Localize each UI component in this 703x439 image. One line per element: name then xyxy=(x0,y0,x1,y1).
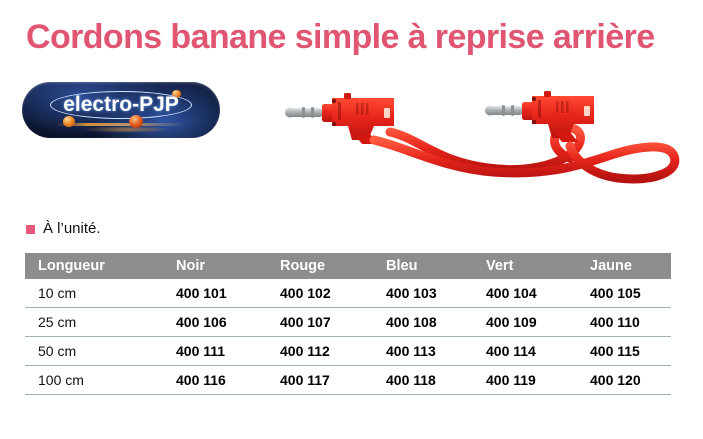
cell-longueur: 25 cm xyxy=(25,308,163,337)
square-bullet-icon xyxy=(26,225,35,234)
cell-bleu: 400 113 xyxy=(373,337,473,366)
cell-noir: 400 111 xyxy=(163,337,267,366)
page-title: Cordons banane simple à reprise arrière xyxy=(26,17,686,57)
cell-rouge: 400 112 xyxy=(267,337,373,366)
cell-vert: 400 109 xyxy=(473,308,577,337)
cell-bleu: 400 103 xyxy=(373,279,473,308)
cell-longueur: 50 cm xyxy=(25,337,163,366)
cell-vert: 400 114 xyxy=(473,337,577,366)
brand-logo: electro-PJP xyxy=(22,82,220,138)
cell-noir: 400 116 xyxy=(163,366,267,395)
cell-jaune: 400 105 xyxy=(577,279,671,308)
banana-lead-illustration xyxy=(278,84,688,189)
cell-jaune: 400 120 xyxy=(577,366,671,395)
column-header-rouge: Rouge xyxy=(267,253,373,279)
product-reference-table: Longueur Noir Rouge Bleu Vert Jaune 10 c… xyxy=(25,253,671,395)
column-header-longueur: Longueur xyxy=(25,253,163,279)
logo-orb-icon xyxy=(63,116,75,127)
cell-noir: 400 101 xyxy=(163,279,267,308)
cell-bleu: 400 108 xyxy=(373,308,473,337)
cell-rouge: 400 107 xyxy=(267,308,373,337)
table-row: 10 cm 400 101 400 102 400 103 400 104 40… xyxy=(25,279,671,308)
table-row: 100 cm 400 116 400 117 400 118 400 119 4… xyxy=(25,366,671,395)
cell-rouge: 400 117 xyxy=(267,366,373,395)
table-row: 25 cm 400 106 400 107 400 108 400 109 40… xyxy=(25,308,671,337)
table-row: 50 cm 400 111 400 112 400 113 400 114 40… xyxy=(25,337,671,366)
logo-glow xyxy=(82,126,172,133)
unit-note-label: À l’unité. xyxy=(43,220,101,238)
cell-longueur: 100 cm xyxy=(25,366,163,395)
cell-vert: 400 104 xyxy=(473,279,577,308)
cell-jaune: 400 110 xyxy=(577,308,671,337)
cell-bleu: 400 118 xyxy=(373,366,473,395)
logo-text: electro-PJP xyxy=(22,93,220,117)
column-header-jaune: Jaune xyxy=(577,253,671,279)
cell-rouge: 400 102 xyxy=(267,279,373,308)
column-header-bleu: Bleu xyxy=(373,253,473,279)
cell-longueur: 10 cm xyxy=(25,279,163,308)
unit-note: À l’unité. xyxy=(26,219,101,239)
product-image xyxy=(278,84,688,189)
cell-noir: 400 106 xyxy=(163,308,267,337)
cell-jaune: 400 115 xyxy=(577,337,671,366)
cell-vert: 400 119 xyxy=(473,366,577,395)
column-header-vert: Vert xyxy=(473,253,577,279)
table-header-row: Longueur Noir Rouge Bleu Vert Jaune xyxy=(25,253,671,279)
column-header-noir: Noir xyxy=(163,253,267,279)
